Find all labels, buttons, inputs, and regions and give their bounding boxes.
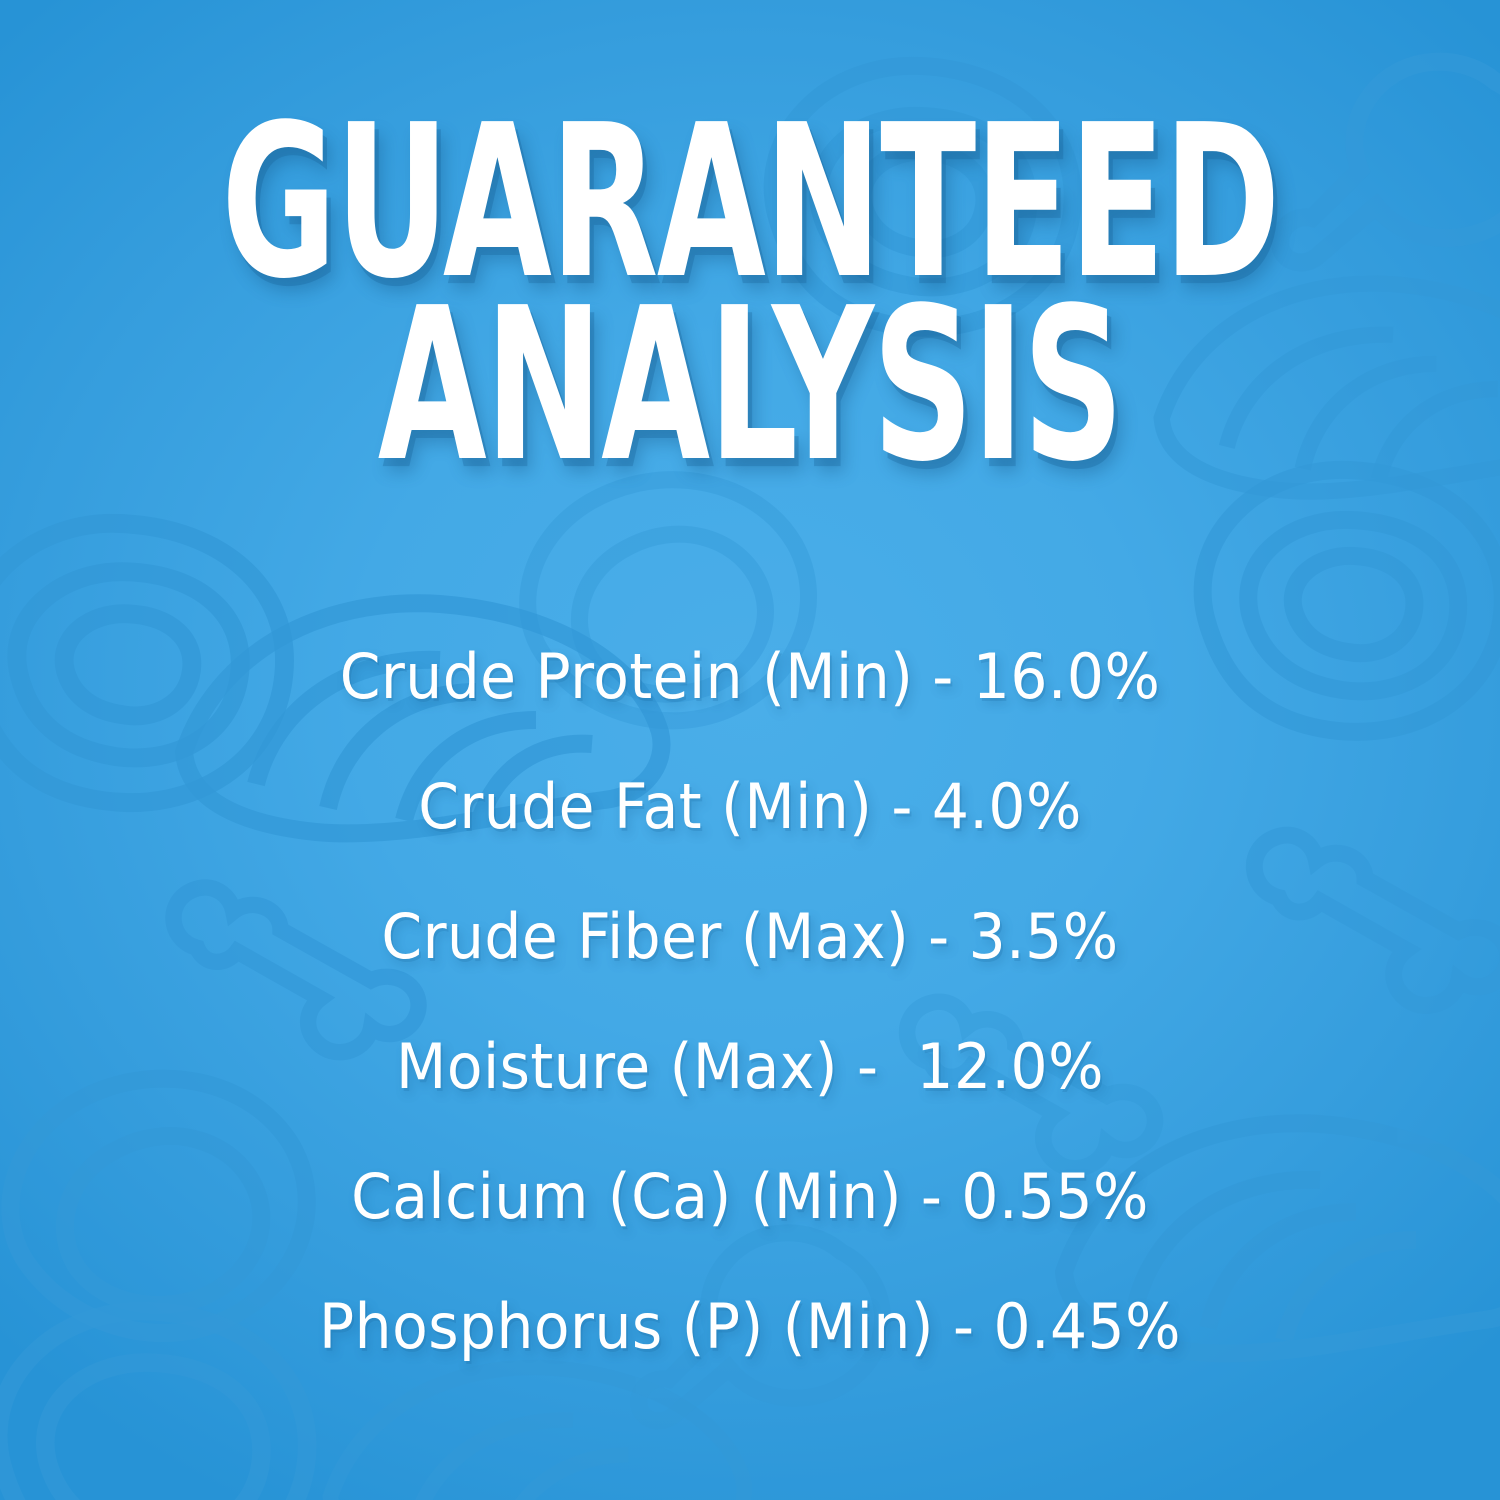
page-title: GUARANTEED ANALYSIS bbox=[0, 118, 1500, 471]
analysis-row: Crude Fiber (Max) - 3.5% bbox=[45, 872, 1455, 1002]
page-title-line-2: ANALYSIS bbox=[105, 288, 1395, 484]
guaranteed-analysis-panel: GUARANTEED ANALYSIS Crude Protein (Min) … bbox=[0, 0, 1500, 1500]
guaranteed-analysis-list: Crude Protein (Min) - 16.0% Crude Fat (M… bbox=[0, 612, 1500, 1392]
analysis-row: Calcium (Ca) (Min) - 0.55% bbox=[45, 1132, 1455, 1262]
analysis-row: Phosphorus (P) (Min) - 0.45% bbox=[45, 1262, 1455, 1392]
analysis-row: Moisture (Max) - 12.0% bbox=[45, 1002, 1455, 1132]
analysis-row: Crude Protein (Min) - 16.0% bbox=[45, 612, 1455, 742]
analysis-row: Crude Fat (Min) - 4.0% bbox=[45, 742, 1455, 872]
